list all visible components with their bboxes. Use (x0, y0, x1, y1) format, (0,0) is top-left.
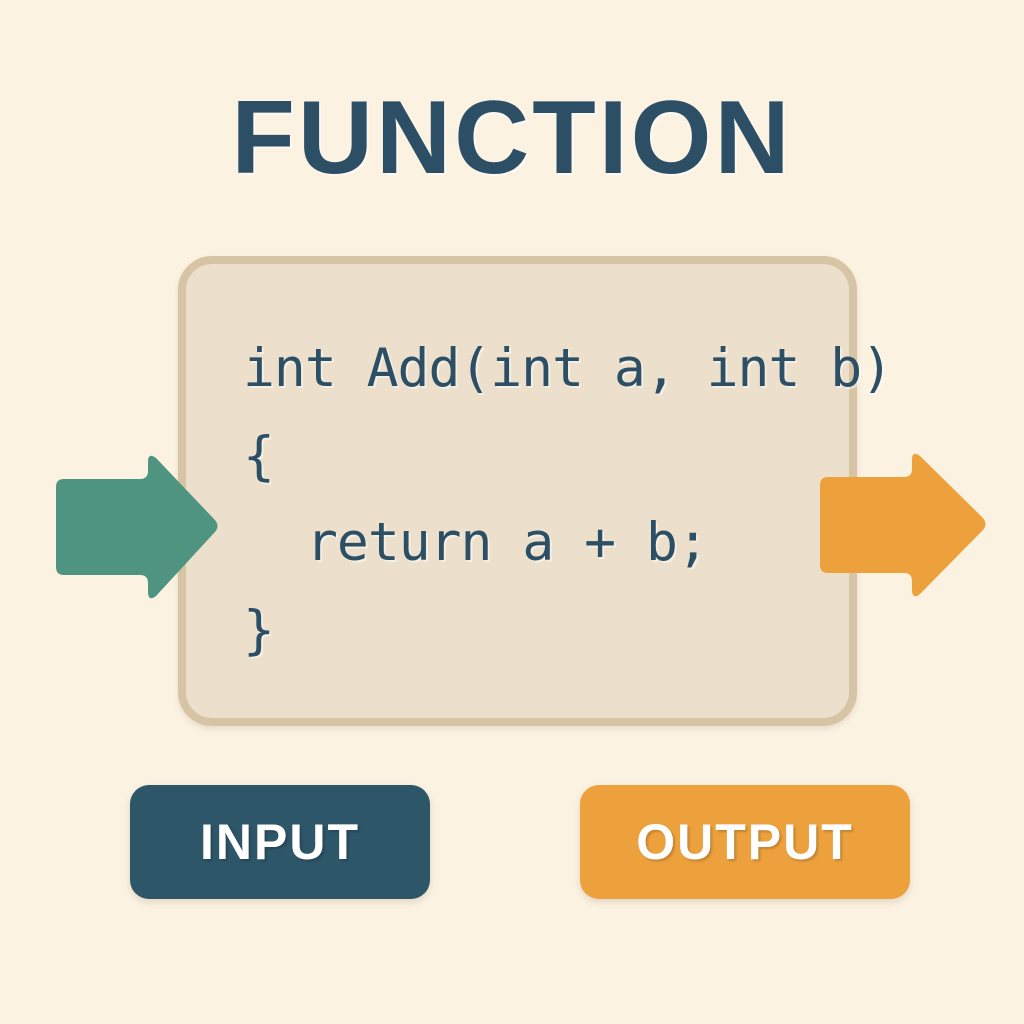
code-line-open-brace: { (243, 430, 274, 483)
diagram-canvas: FUNCTION int Add(int a, int b) { return … (0, 0, 1024, 1024)
input-arrow (44, 450, 222, 608)
code-line-return: return a + b; (306, 516, 708, 569)
function-code-box: int Add(int a, int b) { return a + b; } (178, 256, 857, 726)
output-button[interactable]: OUTPUT (580, 785, 910, 899)
input-button-label: INPUT (200, 813, 360, 871)
code-line-close-brace: } (243, 604, 274, 657)
code-line-signature: int Add(int a, int b) (243, 342, 892, 395)
input-button[interactable]: INPUT (130, 785, 430, 899)
output-button-label: OUTPUT (636, 813, 854, 871)
page-title: FUNCTION (0, 84, 1024, 193)
output-arrow (814, 448, 992, 606)
code-block: int Add(int a, int b) { return a + b; } (186, 264, 849, 718)
